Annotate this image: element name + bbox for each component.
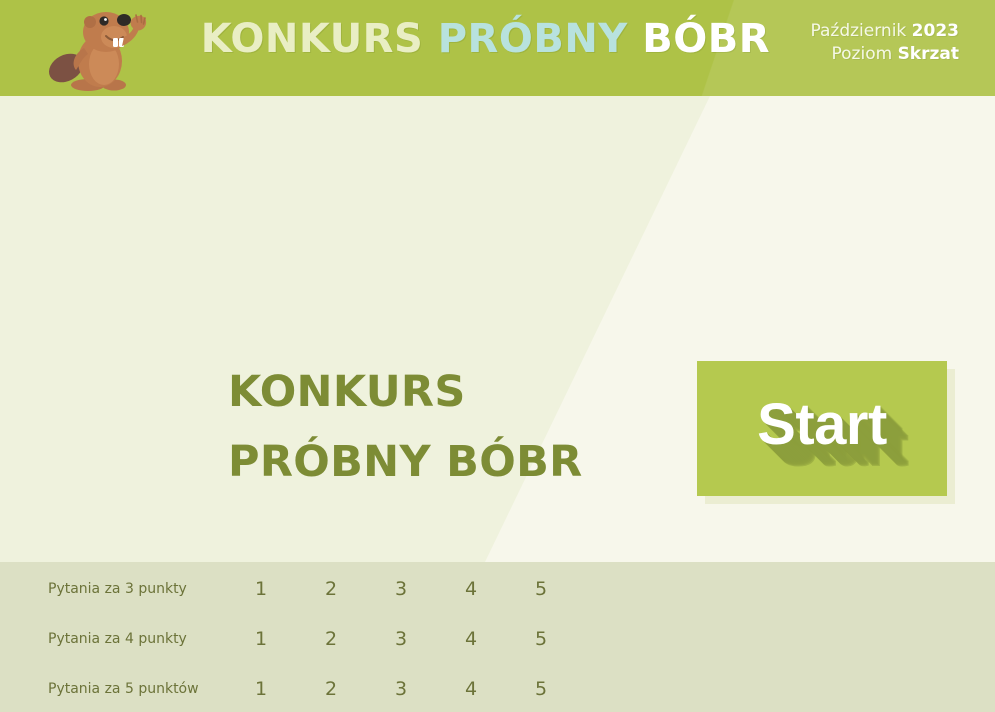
header-title: KONKURS PRÓBNY BÓBR xyxy=(0,19,770,59)
table-row: Pytania za 4 punkty 1 2 3 4 5 xyxy=(0,614,995,664)
header-title-part2: PRÓBNY xyxy=(438,16,628,62)
question-link[interactable]: 4 xyxy=(465,578,535,600)
quiz-landing-page: KONKURS PRÓBNY BÓBR Październik 2023 Poz… xyxy=(0,0,995,712)
page-title: KONKURS PRÓBNY BÓBR xyxy=(228,358,658,497)
header-meta: Październik 2023 Poziom Skrzat xyxy=(811,20,960,66)
header-meta-date: Październik 2023 xyxy=(811,20,960,43)
table-row: Pytania za 3 punkty 1 2 3 4 5 xyxy=(0,564,995,614)
header-meta-level-label: Poziom xyxy=(832,44,893,64)
question-link[interactable]: 5 xyxy=(535,678,605,700)
header-title-part1: KONKURS xyxy=(201,16,424,62)
question-group-label: Pytania za 5 punktów xyxy=(48,681,248,697)
header-meta-year: 2023 xyxy=(912,21,959,41)
question-number-group: 1 2 3 4 5 xyxy=(255,564,605,614)
header-meta-level-value: Skrzat xyxy=(898,44,959,64)
page-header: KONKURS PRÓBNY BÓBR Październik 2023 Poz… xyxy=(0,0,995,96)
page-title-line2: PRÓBNY BÓBR xyxy=(228,428,658,498)
question-link[interactable]: 4 xyxy=(465,628,535,650)
question-number-group: 1 2 3 4 5 xyxy=(255,614,605,664)
question-link[interactable]: 2 xyxy=(325,578,395,600)
header-title-part3: BÓBR xyxy=(642,16,770,62)
question-link[interactable]: 3 xyxy=(395,678,465,700)
question-number-group: 1 2 3 4 5 xyxy=(255,664,605,712)
question-link[interactable]: 3 xyxy=(395,578,465,600)
question-group-label: Pytania za 4 punkty xyxy=(48,631,248,647)
question-link[interactable]: 5 xyxy=(535,628,605,650)
header-meta-month: Październik xyxy=(811,21,907,41)
table-row: Pytania za 5 punktów 1 2 3 4 5 xyxy=(0,664,995,712)
header-meta-level: Poziom Skrzat xyxy=(811,43,960,66)
question-link[interactable]: 1 xyxy=(255,628,325,650)
start-button-wrapper: Start xyxy=(697,361,947,496)
question-link[interactable]: 1 xyxy=(255,678,325,700)
question-footer: Pytania za 3 punkty 1 2 3 4 5 Pytania za… xyxy=(0,562,995,712)
main-stage: KONKURS PRÓBNY BÓBR Start xyxy=(0,96,995,562)
start-button[interactable]: Start xyxy=(697,361,947,496)
question-link[interactable]: 2 xyxy=(325,678,395,700)
start-button-label: Start xyxy=(697,391,947,458)
question-link[interactable]: 3 xyxy=(395,628,465,650)
question-link[interactable]: 4 xyxy=(465,678,535,700)
question-group-label: Pytania za 3 punkty xyxy=(48,581,248,597)
question-link[interactable]: 5 xyxy=(535,578,605,600)
question-link[interactable]: 1 xyxy=(255,578,325,600)
page-title-line1: KONKURS xyxy=(228,358,658,428)
question-link[interactable]: 2 xyxy=(325,628,395,650)
